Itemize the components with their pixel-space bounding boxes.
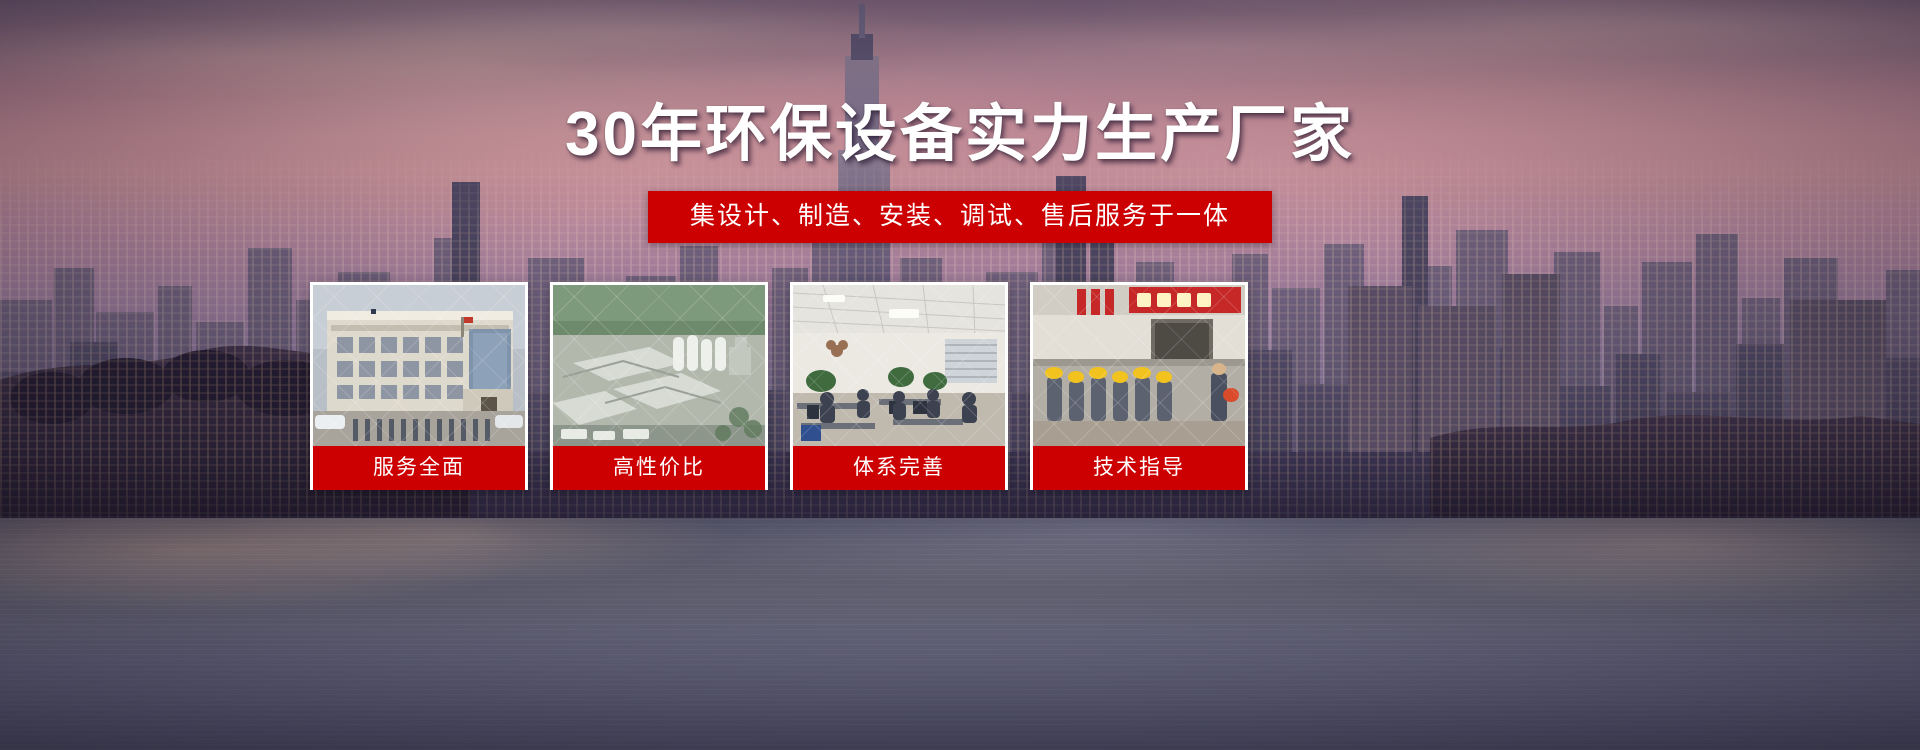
feature-card-list: 服务全面 <box>310 282 1256 490</box>
office-interior-team-photo <box>793 285 1005 446</box>
feature-card[interactable]: 高性价比 <box>550 282 768 490</box>
feature-card-label: 服务全面 <box>313 446 525 490</box>
aerial-factory-plant-photo <box>553 285 765 446</box>
page-title: 30年环保设备实力生产厂家 <box>0 104 1920 166</box>
feature-card-label: 高性价比 <box>553 446 765 490</box>
feature-card-label: 体系完善 <box>793 446 1005 490</box>
subtitle-ribbon-wrap: 集设计、制造、安装、调试、售后服务于一体 <box>0 191 1920 243</box>
office-building-staff-photo <box>313 285 525 446</box>
feature-card[interactable]: 体系完善 <box>790 282 1008 490</box>
feature-card[interactable]: 技术指导 <box>1030 282 1248 490</box>
hero-banner: 30年环保设备实力生产厂家 集设计、制造、安装、调试、售后服务于一体 <box>0 0 1920 750</box>
feature-card[interactable]: 服务全面 <box>310 282 528 490</box>
workshop-crew-photo <box>1033 285 1245 446</box>
subtitle-ribbon: 集设计、制造、安装、调试、售后服务于一体 <box>648 191 1272 243</box>
feature-card-label: 技术指导 <box>1033 446 1245 490</box>
